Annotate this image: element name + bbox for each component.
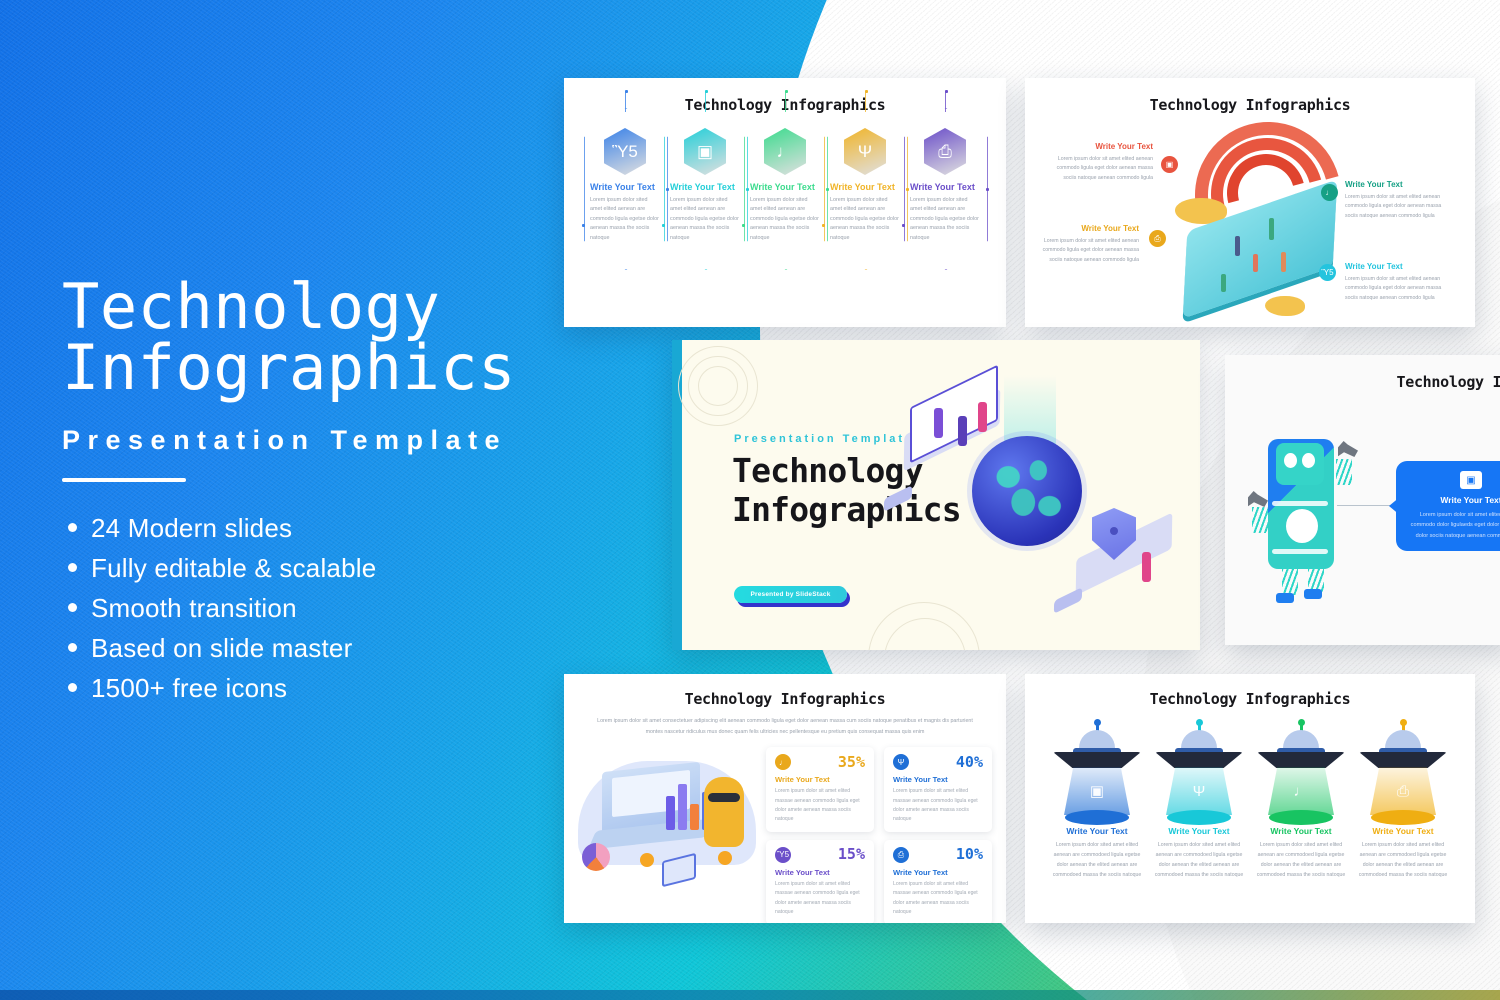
percent-card-1[interactable]: ♩35%Write Your TextLorem ipsum dolor sit…: [766, 747, 874, 832]
circuit-stem: [945, 92, 946, 112]
printer-icon: ⎙: [1397, 783, 1409, 800]
card-label: Write Your Text: [893, 868, 983, 877]
percent-content: ♩35%Write Your TextLorem ipsum dolor sit…: [564, 737, 1006, 923]
feature-label: 24 Modern slides: [91, 515, 292, 541]
page-title-line1: Technology: [62, 276, 582, 337]
hex-step-5[interactable]: ⎙Write Your TextLorem ipsum dolor sited …: [910, 128, 980, 243]
circuit-node: [865, 90, 868, 93]
ufo-light-beam: ♩: [1268, 767, 1334, 815]
earbuds-icon: ♩: [777, 143, 794, 160]
card-percent: 40%: [956, 755, 983, 770]
earbuds-icon: ♩: [775, 754, 791, 770]
usb-icon: Ψ: [1193, 783, 1206, 800]
ufo-item-4[interactable]: ⎙Write Your TextLorem ipsum dolor sited …: [1357, 722, 1449, 881]
wifi-note-body: Lorem ipsum dolor sit amet elited aenean…: [1029, 237, 1139, 265]
wifi-note-label: Write Your Text: [1043, 142, 1153, 151]
title-divider: [62, 478, 186, 482]
bullet-dot: [68, 643, 77, 652]
ufo-item-1[interactable]: ▣Write Your TextLorem ipsum dolor sited …: [1051, 722, 1143, 881]
main-eyebrow: Presentation Template: [734, 433, 914, 445]
card-percent: 35%: [838, 755, 865, 770]
card-percent: 15%: [838, 847, 865, 862]
pie-chart-icon: [582, 843, 610, 871]
person-figure: [1269, 218, 1274, 240]
feature-item: 1500+ free icons: [62, 675, 582, 701]
bullet-dot: [68, 683, 77, 692]
circuit-stem: [785, 92, 786, 112]
wifi-note-4[interactable]: Write Your TextLorem ipsum dolor sit ame…: [1345, 262, 1455, 303]
feature-item: Fully editable & scalable: [62, 555, 582, 581]
ufo-saucer: [1257, 752, 1345, 768]
ufo-illustration: Ψ: [1153, 722, 1245, 816]
robot-foot-left: [1276, 593, 1294, 603]
feature-item: 24 Modern slides: [62, 515, 582, 541]
circuit-node: [742, 224, 745, 227]
monitor-icon: Ὓ5: [1319, 264, 1336, 281]
usb-icon: Ψ: [858, 143, 872, 160]
ufo-landing-pad: [1269, 810, 1333, 825]
ufo-body: Lorem ipsum dolor sited amet elited aene…: [1051, 841, 1143, 881]
feature-label: 1500+ free icons: [91, 675, 287, 701]
circuit-node: [625, 90, 628, 93]
card-label: Write Your Text: [775, 775, 865, 784]
decor-ring: [698, 366, 738, 406]
gear-icon: [640, 853, 654, 867]
robot-eye-left: [1284, 453, 1297, 468]
ufo-label: Write Your Text: [1153, 826, 1245, 836]
person-figure: [978, 402, 987, 432]
iso-tile: [1054, 587, 1082, 614]
card-percent: 10%: [956, 847, 983, 862]
spring: [1336, 459, 1352, 485]
ufo-label: Write Your Text: [1255, 826, 1347, 836]
wifi-note-3[interactable]: Write Your TextLorem ipsum dolor sit ame…: [1029, 224, 1139, 265]
cloud-bottom: [1265, 296, 1305, 316]
ufo-item-3[interactable]: ♩Write Your TextLorem ipsum dolor sited …: [1255, 722, 1347, 881]
callout-label: Write Your Text: [1408, 495, 1500, 505]
chip-icon: ▣: [1460, 471, 1482, 489]
earbuds-icon: ♩: [1321, 184, 1338, 201]
wifi-note-label: Write Your Text: [1345, 180, 1455, 189]
main-slide-title: Technology Infographics: [732, 452, 961, 530]
feature-item: Smooth transition: [62, 595, 582, 621]
earbuds-icon: ♩: [1294, 783, 1309, 800]
ufo-illustration: ♩: [1255, 722, 1347, 816]
ufo-illustration: ⎙: [1357, 722, 1449, 816]
hex-step-row: Ὓ5Write Your TextLorem ipsum dolor sited…: [564, 114, 1006, 243]
slide-wifi-phone[interactable]: Technology Infographics Write Your TextL…: [1025, 78, 1475, 327]
presented-by-badge[interactable]: Presented by SlideStack: [734, 586, 847, 603]
ufo-label: Write Your Text: [1051, 826, 1143, 836]
slide-title: Technology Infographics: [1025, 690, 1475, 708]
wifi-note-body: Lorem ipsum dolor sit amet elited aenean…: [1345, 275, 1455, 303]
circuit-node: [662, 224, 665, 227]
printer-icon: ⎙: [893, 847, 909, 863]
person-figure: [1235, 236, 1240, 256]
ufo-landing-pad: [1371, 810, 1435, 825]
hero-block: Technology Infographics Presentation Tem…: [62, 276, 582, 717]
ufo-label: Write Your Text: [1357, 826, 1449, 836]
feature-label: Smooth transition: [91, 595, 297, 621]
ufo-saucer: [1359, 752, 1447, 768]
wifi-note-body: Lorem ipsum dolor sit amet elited aenean…: [1345, 193, 1455, 221]
feature-label: Based on slide master: [91, 635, 352, 661]
hex-step-3[interactable]: ♩Write Your TextLorem ipsum dolor sited …: [750, 128, 820, 243]
robot-eye-right: [1302, 453, 1315, 468]
person-figure: [1221, 274, 1226, 292]
circuit-node: [705, 90, 708, 93]
slide-title: Technology In: [1225, 373, 1500, 391]
bullet-dot: [68, 603, 77, 612]
page-subtitle: Presentation Template: [62, 425, 582, 456]
percent-card-3[interactable]: Ὓ515%Write Your TextLorem ipsum dolor si…: [766, 840, 874, 923]
wifi-note-2[interactable]: Write Your TextLorem ipsum dolor sit ame…: [1345, 180, 1455, 221]
robot-arm-left: [1250, 499, 1268, 529]
usb-icon: Ψ: [893, 754, 909, 770]
ufo-saucer: [1053, 752, 1141, 768]
circuit-node: [822, 224, 825, 227]
card-header: ♩35%: [775, 754, 865, 770]
card-body: Lorem ipsum dolor sit amet elited massae…: [893, 880, 983, 918]
card-header: Ὓ515%: [775, 847, 865, 863]
chart-bar: [690, 804, 699, 830]
globe-illustration: [972, 436, 1082, 546]
robot-figure: [704, 777, 744, 847]
wifi-note-label: Write Your Text: [1029, 224, 1139, 233]
circuit-node: [986, 188, 989, 191]
page-title: Technology Infographics: [62, 276, 582, 399]
background-bottom-bar: [0, 990, 1500, 1000]
ufo-item-2[interactable]: ΨWrite Your TextLorem ipsum dolor sited …: [1153, 722, 1245, 881]
robot-stripe: [1272, 549, 1328, 554]
card-body: Lorem ipsum dolor sit amet elited massae…: [775, 880, 865, 918]
hex-step-4[interactable]: ΨWrite Your TextLorem ipsum dolor sited …: [830, 128, 900, 243]
slide-lede: Lorem ipsum dolor sit amet consectetuer …: [588, 716, 982, 737]
ufo-body: Lorem ipsum dolor sited amet elited aene…: [1255, 841, 1347, 881]
hex-step-2[interactable]: ▣Write Your TextLorem ipsum dolor sited …: [670, 128, 740, 243]
chart-bar: [678, 784, 687, 830]
robot-belly: [1286, 509, 1318, 543]
robot-leg-left: [1282, 567, 1298, 595]
slide-ufo[interactable]: Technology Infographics ▣Write Your Text…: [1025, 674, 1475, 923]
robot-callout-card[interactable]: ▣ Write Your Text Lorem ipsum dolor sit …: [1396, 461, 1500, 551]
robot-arm-right: [1334, 451, 1352, 481]
page-title-line2: Infographics: [62, 337, 582, 398]
slide-title: Technology Infographics: [564, 690, 1006, 708]
laptop-illustration: [578, 747, 758, 872]
circuit-stem: [705, 92, 706, 112]
feature-item: Based on slide master: [62, 635, 582, 661]
bullet-dot: [68, 523, 77, 532]
percent-card-2[interactable]: Ψ40%Write Your TextLorem ipsum dolor sit…: [884, 747, 992, 832]
robot-visor: [708, 793, 740, 802]
ufo-landing-pad: [1065, 810, 1129, 825]
bullet-dot: [68, 563, 77, 572]
card-header: Ψ40%: [893, 754, 983, 770]
slide-main-title[interactable]: Presentation Template Technology Infogra…: [672, 340, 1200, 650]
ufo-light-beam: Ψ: [1166, 767, 1232, 815]
wrench-icon: [1338, 441, 1358, 457]
circuit-node: [945, 90, 948, 93]
monitor-icon: Ὓ5: [612, 143, 638, 160]
ufo-illustration: ▣: [1051, 722, 1143, 816]
circuit-node: [582, 224, 585, 227]
ufo-light-beam: ▣: [1064, 767, 1130, 815]
hex-step-1[interactable]: Ὓ5Write Your TextLorem ipsum dolor sited…: [590, 128, 660, 243]
person-figure: [1142, 552, 1151, 582]
ufo-light-beam: ⎙: [1370, 767, 1436, 815]
circuit-stem: [865, 92, 866, 112]
card-body: Lorem ipsum dolor sit amet elited massae…: [775, 787, 865, 825]
circuit-stem: [625, 92, 626, 112]
wrench-icon: [1248, 491, 1268, 507]
wifi-note-1[interactable]: Write Your TextLorem ipsum dolor sit ame…: [1043, 142, 1153, 183]
light-beam: [1004, 375, 1056, 445]
robot-illustration: [1250, 417, 1370, 607]
person-figure: [934, 408, 943, 438]
monitor-icon: Ὓ5: [775, 847, 791, 863]
ufo-landing-pad: [1167, 810, 1231, 825]
main-title-line2: Infographics: [732, 491, 961, 530]
wifi-note-label: Write Your Text: [1345, 262, 1455, 271]
slide-percent-cards[interactable]: Technology Infographics Lorem ipsum dolo…: [564, 674, 1006, 923]
printer-icon: ⎙: [938, 143, 952, 160]
ufo-row: ▣Write Your TextLorem ipsum dolor sited …: [1025, 708, 1475, 881]
card-body: Lorem ipsum dolor sit amet elited massae…: [893, 787, 983, 825]
chart-bar: [666, 796, 675, 830]
percent-card-grid: ♩35%Write Your TextLorem ipsum dolor sit…: [766, 747, 992, 923]
circuit-node: [785, 90, 788, 93]
ufo-body: Lorem ipsum dolor sited amet elited aene…: [1153, 841, 1245, 881]
card-label: Write Your Text: [893, 775, 983, 784]
feature-list: 24 Modern slidesFully editable & scalabl…: [62, 515, 582, 701]
robot-foot-right: [1304, 589, 1322, 599]
ufo-saucer: [1155, 752, 1243, 768]
spring: [1252, 507, 1268, 533]
robot-head: [1276, 443, 1324, 485]
poster-canvas: Technology Infographics Presentation Tem…: [0, 0, 1500, 1000]
wifi-illustration: Write Your TextLorem ipsum dolor sit ame…: [1025, 114, 1475, 314]
feature-label: Fully editable & scalable: [91, 555, 376, 581]
card-label: Write Your Text: [775, 868, 865, 877]
percent-card-4[interactable]: ⎙10%Write Your TextLorem ipsum dolor sit…: [884, 840, 992, 923]
person-figure: [958, 416, 967, 446]
chip-icon: ▣: [1090, 782, 1104, 800]
callout-body: Lorem ipsum dolor sit amet elited aenean…: [1408, 510, 1500, 541]
person-figure: [1281, 252, 1286, 272]
person-figure: [1253, 254, 1258, 272]
slide-robot[interactable]: Technology In ▣ Write: [1225, 355, 1500, 645]
camera-icon: ▣: [1161, 156, 1178, 173]
printer-icon: ⎙: [1149, 230, 1166, 247]
wifi-note-body: Lorem ipsum dolor sit amet elited aenean…: [1043, 155, 1153, 183]
slide-hex-steps[interactable]: Technology Infographics Ὓ5Write Your Tex…: [564, 78, 1006, 327]
slide-title: Technology Infographics: [1025, 96, 1475, 114]
callout-connector: [1337, 505, 1393, 506]
circuit-node: [902, 224, 905, 227]
robot-stripe: [1272, 501, 1328, 506]
card-header: ⎙10%: [893, 847, 983, 863]
ufo-body: Lorem ipsum dolor sited amet elited aene…: [1357, 841, 1449, 881]
chip-icon: ▣: [697, 143, 713, 160]
